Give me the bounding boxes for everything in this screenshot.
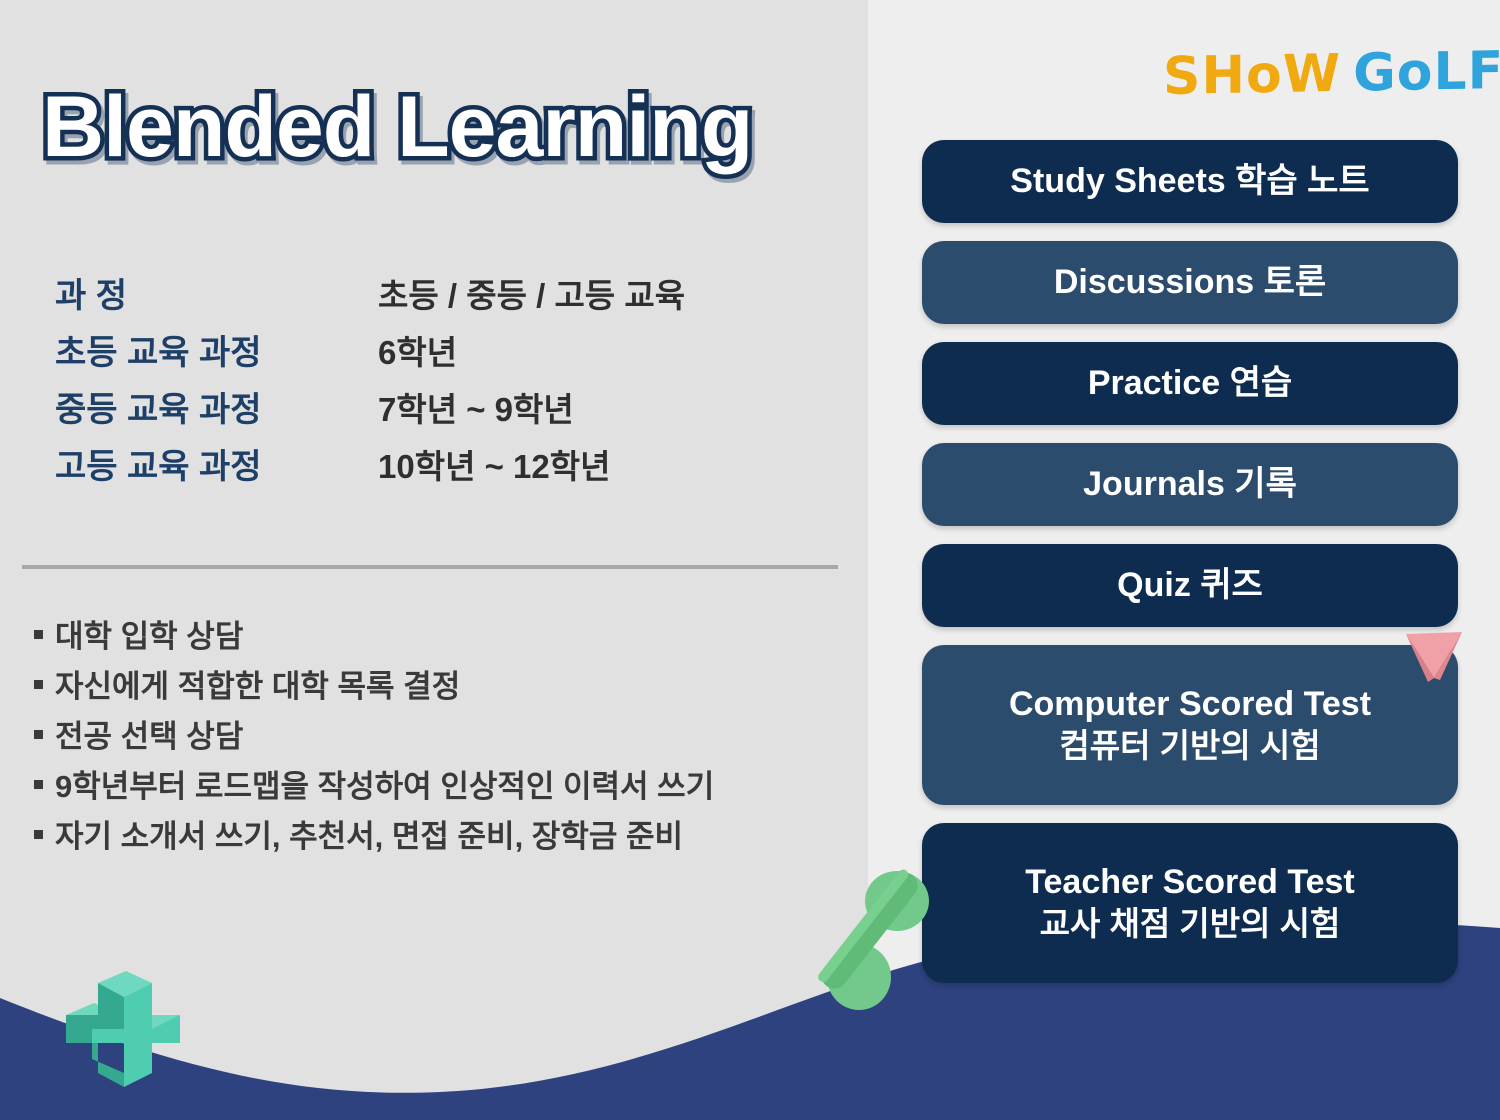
spec-value: 6학년 — [378, 326, 457, 374]
list-item-label: 전공 선택 상담 — [55, 711, 243, 756]
pill-teacher-scored-test[interactable]: Teacher Scored Test 교사 채점 기반의 시험 — [922, 823, 1458, 983]
counseling-bullet-list: 대학 입학 상담 자신에게 적합한 대학 목록 결정 전공 선택 상담 9학년부… — [34, 608, 864, 858]
list-item-label: 자신에게 적합한 대학 목록 결정 — [55, 661, 460, 706]
logo-text-show: SHoW — [1163, 44, 1341, 107]
table-row: 고등 교육 과정 10학년 ~ 12학년 — [55, 439, 845, 496]
pill-primary-label: Practice 연습 — [1088, 364, 1292, 402]
table-row: 과 정 초등 / 중등 / 고등 교육 — [55, 268, 845, 325]
spec-label: 중등 교육 과정 — [55, 382, 378, 431]
spec-label: 과 정 — [55, 268, 378, 317]
list-item: 9학년부터 로드맵을 작성하여 인상적인 이력서 쓰기 — [34, 758, 864, 808]
pill-computer-scored-test[interactable]: Computer Scored Test 컴퓨터 기반의 시험 — [922, 645, 1458, 805]
table-row: 중등 교육 과정 7학년 ~ 9학년 — [55, 382, 845, 439]
pill-primary-label: Discussions 토론 — [1054, 263, 1326, 301]
square-bullet-icon — [34, 630, 43, 639]
logo-text-golf: GoLF — [1353, 41, 1500, 104]
pill-discussions[interactable]: Discussions 토론 — [922, 241, 1458, 324]
list-item: 대학 입학 상담 — [34, 608, 864, 658]
square-bullet-icon — [34, 680, 43, 689]
list-item-label: 대학 입학 상담 — [55, 611, 243, 656]
list-item: 자신에게 적합한 대학 목록 결정 — [34, 658, 864, 708]
list-item-label: 9학년부터 로드맵을 작성하여 인상적인 이력서 쓰기 — [55, 761, 714, 806]
pill-primary-label: Journals 기록 — [1083, 465, 1297, 503]
spec-value: 초등 / 중등 / 고등 교육 — [378, 269, 685, 317]
pill-journals[interactable]: Journals 기록 — [922, 443, 1458, 526]
spec-label: 초등 교육 과정 — [55, 325, 378, 374]
pill-primary-label: Quiz 퀴즈 — [1117, 566, 1263, 604]
section-divider — [22, 565, 838, 569]
table-row: 초등 교육 과정 6학년 — [55, 325, 845, 382]
square-bullet-icon — [34, 780, 43, 789]
square-bullet-icon — [34, 730, 43, 739]
spec-value: 7학년 ~ 9학년 — [378, 383, 574, 431]
pill-secondary-label: 교사 채점 기반의 시험 — [1040, 906, 1341, 943]
pill-study-sheets[interactable]: Study Sheets 학습 노트 — [922, 140, 1458, 223]
list-item-label: 자기 소개서 쓰기, 추천서, 면접 준비, 장학금 준비 — [55, 811, 683, 856]
show-golf-logo: SHoWGoLF — [1163, 41, 1500, 107]
pill-primary-label: Study Sheets 학습 노트 — [1010, 162, 1369, 200]
curriculum-spec-table: 과 정 초등 / 중등 / 고등 교육 초등 교육 과정 6학년 중등 교육 과… — [55, 268, 845, 496]
feature-pill-list: Study Sheets 학습 노트 Discussions 토론 Practi… — [922, 140, 1458, 1001]
pill-primary-label: Teacher Scored Test — [1025, 863, 1354, 901]
list-item: 자기 소개서 쓰기, 추천서, 면접 준비, 장학금 준비 — [34, 808, 864, 858]
slide-canvas: Blended Learning 과 정 초등 / 중등 / 고등 교육 초등 … — [0, 0, 1500, 1120]
spec-label: 고등 교육 과정 — [55, 439, 378, 488]
page-title: Blended Learning — [42, 78, 752, 177]
spec-value: 10학년 ~ 12학년 — [378, 440, 610, 488]
square-bullet-icon — [34, 830, 43, 839]
pill-quiz[interactable]: Quiz 퀴즈 — [922, 544, 1458, 627]
pill-primary-label: Computer Scored Test — [1009, 685, 1371, 723]
pill-secondary-label: 컴퓨터 기반의 시험 — [1059, 728, 1320, 765]
list-item: 전공 선택 상담 — [34, 708, 864, 758]
pill-practice[interactable]: Practice 연습 — [922, 342, 1458, 425]
